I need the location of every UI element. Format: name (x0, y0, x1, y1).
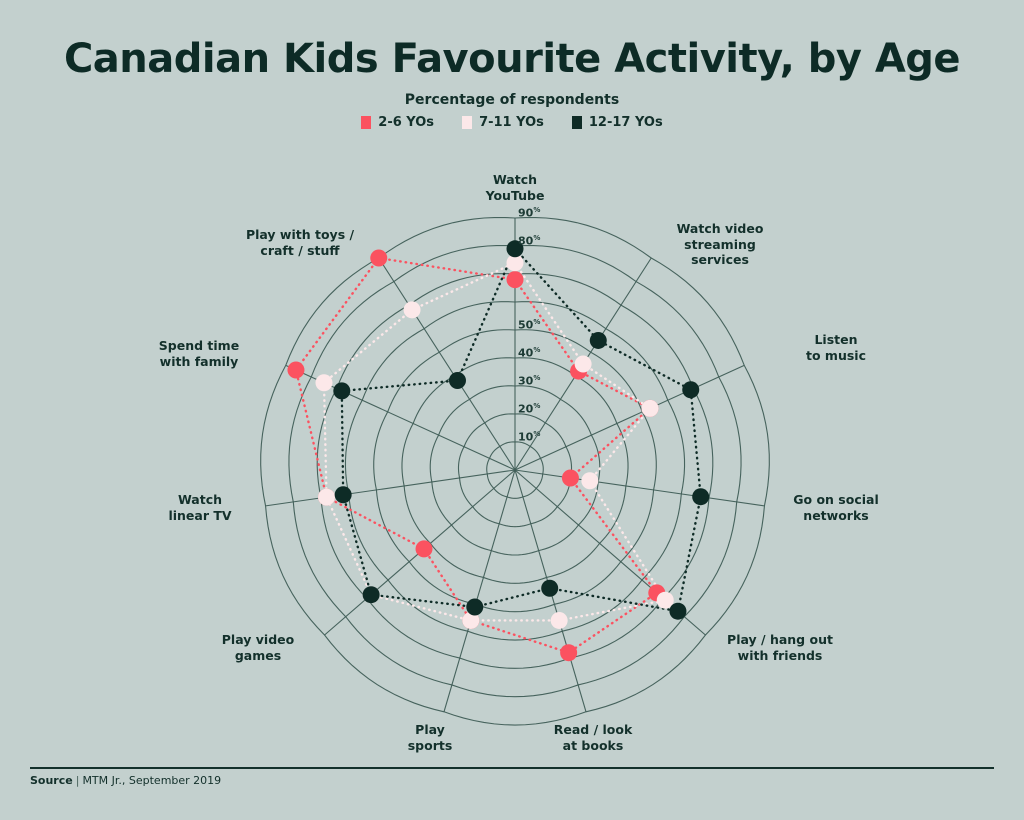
radial-tick-label: 40% (518, 346, 540, 360)
data-point[interactable] (507, 271, 524, 288)
data-point[interactable] (335, 486, 352, 503)
axis-label-play-video-games: Play video games (206, 632, 310, 663)
radar-chart-svg (0, 0, 1024, 816)
data-point[interactable] (370, 250, 387, 267)
data-point[interactable] (581, 472, 598, 489)
radial-tick-label: 20% (518, 402, 540, 416)
data-point[interactable] (551, 612, 568, 629)
axis-label-listen-to-music: Listen to music (796, 332, 876, 363)
axis-label-watch-video-streaming-services: Watch video streaming services (672, 221, 768, 268)
grid-spoke (379, 258, 515, 470)
axis-label-go-on-social-networks: Go on social networks (784, 492, 888, 523)
radial-tick-label: 10% (518, 430, 540, 444)
source-note: Source|MTM Jr., September 2019 (30, 774, 221, 787)
radial-tick-label: 80% (518, 234, 540, 248)
axis-label-play-hang-out-with-friends: Play / hang out with friends (718, 632, 842, 663)
data-point[interactable] (641, 400, 658, 417)
data-point[interactable] (541, 580, 558, 597)
data-point[interactable] (449, 372, 466, 389)
chart-page: Canadian Kids Favourite Activity, by Age… (0, 0, 1024, 816)
data-point[interactable] (682, 381, 699, 398)
data-point[interactable] (466, 599, 483, 616)
radial-tick-label: 30% (518, 374, 540, 388)
data-point[interactable] (333, 382, 350, 399)
axis-label-watch-linear-tv: Watch linear TV (158, 492, 242, 523)
data-point[interactable] (287, 361, 304, 378)
radial-tick-label: 50% (518, 318, 540, 332)
grid-spoke (266, 470, 515, 506)
data-point[interactable] (562, 469, 579, 486)
grid-spoke (444, 470, 515, 712)
axis-label-read-look-at-books: Read / look at books (543, 722, 643, 753)
data-point[interactable] (315, 374, 332, 391)
data-point[interactable] (692, 488, 709, 505)
data-point[interactable] (363, 586, 380, 603)
data-point[interactable] (590, 332, 607, 349)
axis-label-play-sports: Play sports (395, 722, 465, 753)
source-separator: | (76, 774, 80, 787)
source-text: MTM Jr., September 2019 (82, 774, 221, 787)
data-point[interactable] (318, 489, 335, 506)
data-point[interactable] (416, 540, 433, 557)
radar-chart: 10%20%30%40%50%80%90% (0, 0, 1024, 816)
axis-label-watch-youtube: Watch YouTube (480, 172, 550, 203)
data-point[interactable] (575, 356, 592, 373)
grid-spoke (515, 365, 744, 470)
radial-tick-label: 90% (518, 206, 540, 220)
axis-label-spend-time-with-family: Spend time with family (144, 338, 254, 369)
series-line (296, 258, 657, 653)
data-point[interactable] (404, 301, 421, 318)
data-point[interactable] (560, 644, 577, 661)
axis-label-play-with-toys-craft-stuff: Play with toys / craft / stuff (238, 227, 362, 258)
data-point[interactable] (669, 603, 686, 620)
grid-spoke (515, 470, 764, 506)
footer-divider (30, 767, 994, 769)
source-label: Source (30, 774, 73, 787)
